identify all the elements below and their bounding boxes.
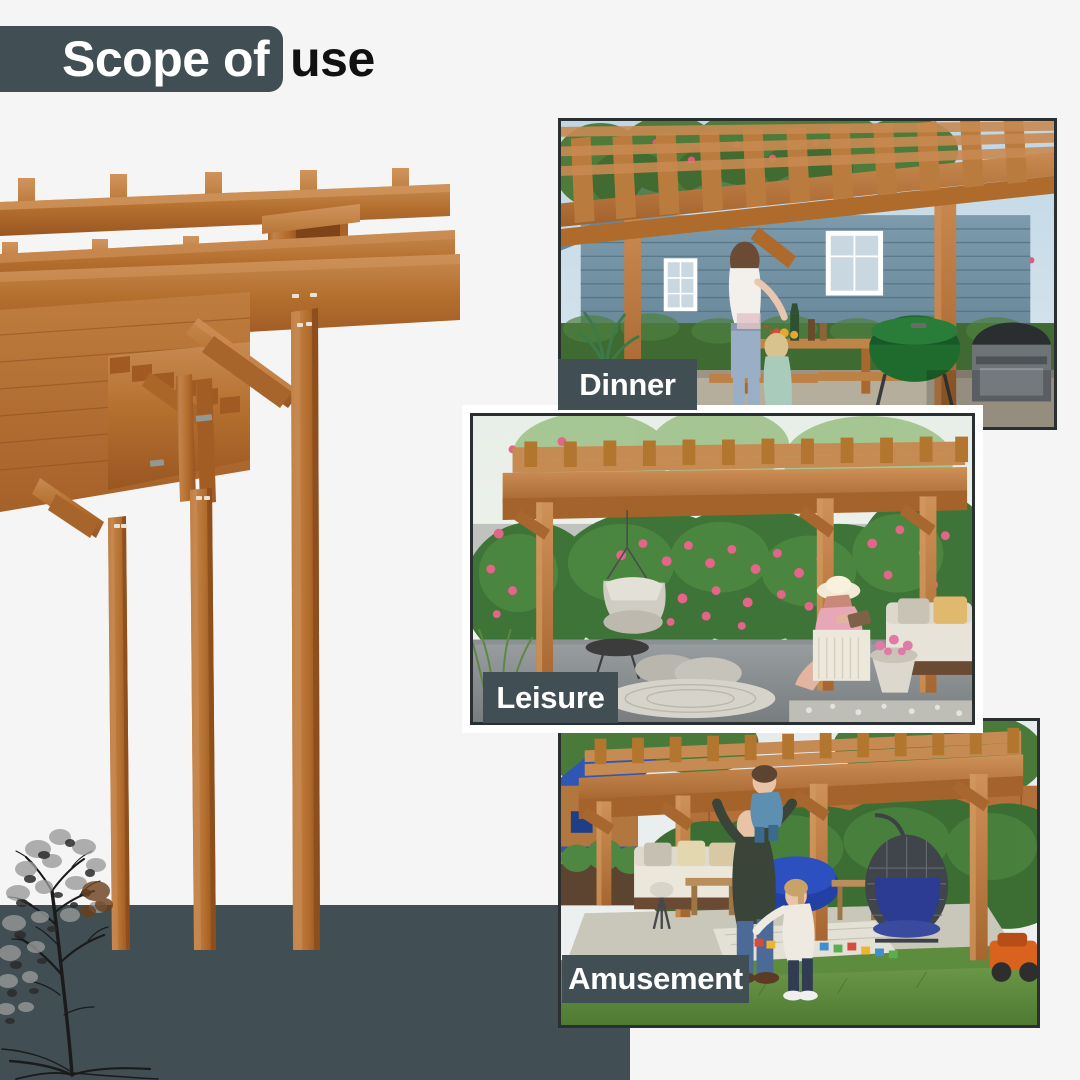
panel-label-leisure: Leisure	[483, 672, 618, 723]
page-title: Scope of use	[0, 26, 375, 92]
title-banner-text: Scope of	[62, 34, 269, 84]
pergola-product-render	[0, 160, 470, 950]
title-banner: Scope of	[0, 26, 283, 92]
title-outside-text: use	[290, 34, 375, 84]
panel-label-dinner-text: Dinner	[579, 367, 675, 403]
scope-of-use-graphic: Dinner	[0, 0, 1080, 1080]
panel-label-amusement: Amusement	[562, 955, 749, 1003]
panel-label-dinner: Dinner	[558, 359, 697, 410]
panel-label-leisure-text: Leisure	[496, 680, 604, 716]
panel-label-amusement-text: Amusement	[568, 961, 743, 997]
